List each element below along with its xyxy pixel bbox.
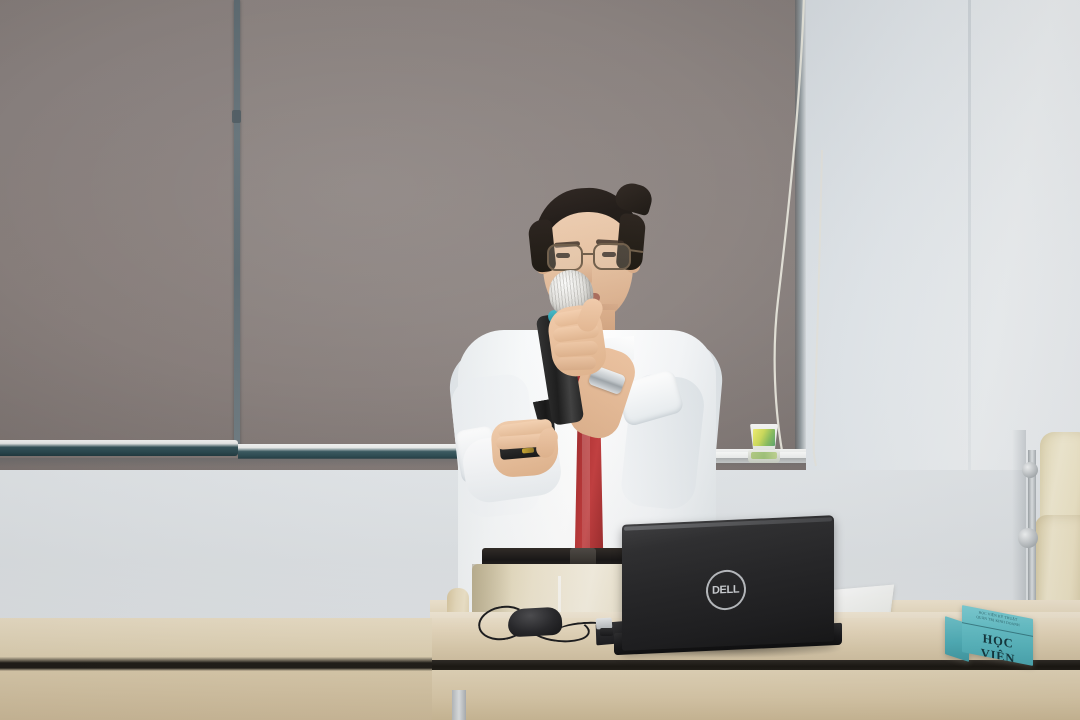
dell-wordmark: DELL: [712, 583, 739, 596]
computer-mouse: [507, 607, 562, 638]
usb-connector-body: [600, 628, 613, 636]
finger: [556, 356, 596, 370]
glasses-bridge: [582, 253, 594, 255]
cup-base-label: [751, 452, 777, 459]
hanging-cord-icon: [770, 0, 830, 470]
name-plate-subtitle: HỌC VIỆN KỸ THUẬT QUẢN TRỊ KINH DOANH: [967, 608, 1029, 631]
classroom-wall-right: [802, 0, 1080, 470]
cup-label: [753, 429, 775, 446]
dell-laptop: DELL: [614, 520, 836, 655]
wall-seam: [968, 0, 971, 470]
chair-leg: [452, 690, 466, 720]
presenter-remote-button: [522, 447, 534, 453]
blind-weight-bar-left: [0, 440, 238, 456]
drink-cup: [748, 424, 780, 464]
photo-scene: DELL HỌC VIỆN KỸ THUẬT QUẢN TRỊ KINH DOA…: [0, 0, 1080, 720]
lens-right: [593, 243, 631, 270]
chair-knob: [1022, 462, 1038, 478]
name-plate-face: HỌC VIỆN KỸ THUẬT QUẢN TRỊ KINH DOANH HỌ…: [962, 605, 1033, 666]
blind-panel-seam: [234, 0, 240, 452]
desk-left-section: [0, 618, 432, 720]
blind-seam-bracket: [232, 110, 241, 123]
desk-name-plate: HỌC VIỆN KỸ THUẬT QUẢN TRỊ KINH DOANH HỌ…: [945, 612, 1033, 660]
chair-knob: [1018, 528, 1038, 548]
